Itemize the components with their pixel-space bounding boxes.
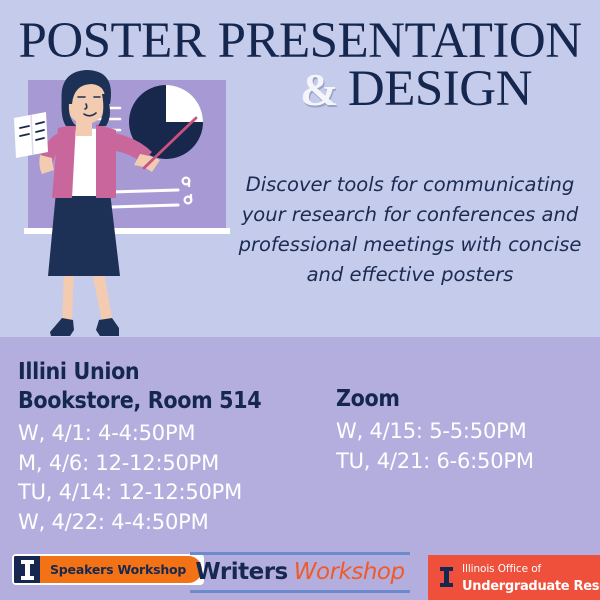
- session-time-list: W, 4/15: 5-5:50PM TU, 4/21: 6-6:50PM: [336, 417, 596, 476]
- session-time: TU, 4/14: 12-12:50PM: [18, 478, 338, 508]
- session-group-in-person: Illini Union Bookstore, Room 514 W, 4/1:…: [18, 358, 338, 537]
- illinois-i-icon: [14, 556, 40, 583]
- workshop-word: Workshop: [294, 559, 405, 585]
- session-time: TU, 4/21: 6-6:50PM: [336, 447, 596, 477]
- session-group-zoom: Zoom W, 4/15: 5-5:50PM TU, 4/21: 6-6:50P…: [336, 385, 596, 476]
- legs: [62, 272, 112, 322]
- writers-word: Writers: [195, 559, 287, 585]
- writers-workshop-logo[interactable]: WritersWorkshop: [190, 552, 410, 593]
- ampersand-glyph: &: [300, 64, 338, 115]
- session-time: W, 4/22: 4-4:50PM: [18, 508, 338, 538]
- title-design-word: DESIGN: [348, 61, 532, 117]
- title-line-2: &DESIGN: [232, 60, 600, 119]
- poster-description: Discover tools for communicating your re…: [226, 170, 594, 290]
- session-time-list: W, 4/1: 4-4:50PM M, 4/6: 12-12:50PM TU, …: [18, 419, 338, 537]
- session-time: W, 4/1: 4-4:50PM: [18, 419, 338, 449]
- undergraduate-research-logo[interactable]: Illinois Office of Undergraduate Researc…: [428, 555, 600, 600]
- poster-canvas: POSTER PRESENTATION &DESIGN Discover too…: [0, 0, 600, 600]
- skirt: [48, 192, 120, 276]
- office-line-2: Undergraduate Research: [462, 579, 600, 594]
- speakers-workshop-label: Speakers Workshop: [40, 556, 202, 583]
- speakers-workshop-logo[interactable]: Speakers Workshop: [12, 554, 204, 585]
- venue-name-line-2: Bookstore, Room 514: [18, 387, 306, 416]
- venue-name-line-1: Illini Union: [18, 358, 306, 387]
- open-notebook: [14, 112, 48, 158]
- presenter-illustration: [0, 0, 240, 345]
- session-time: M, 4/6: 12-12:50PM: [18, 449, 338, 479]
- session-time: W, 4/15: 5-5:50PM: [336, 417, 596, 447]
- office-line-1: Illinois Office of: [462, 563, 541, 575]
- venue-name-line-1: Zoom: [336, 385, 570, 414]
- shoes: [50, 318, 119, 336]
- footer-logo-bar: Speakers Workshop WritersWorkshop Illino…: [0, 550, 600, 600]
- illinois-i-icon: [434, 567, 458, 587]
